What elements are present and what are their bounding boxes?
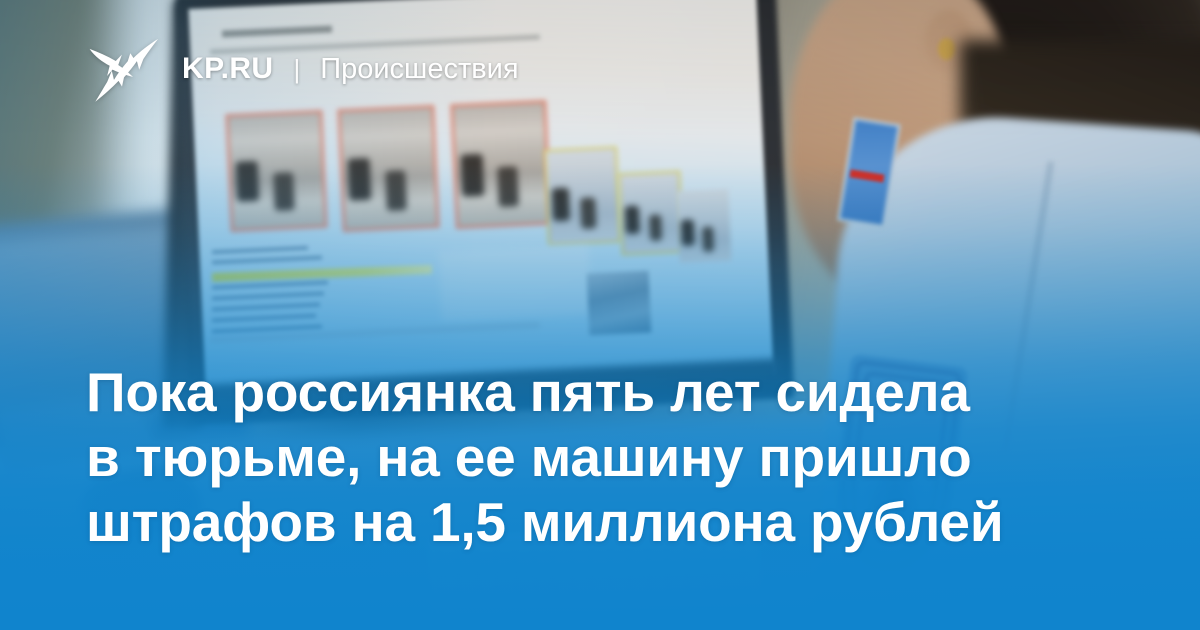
headline-line-2: в тюрьме, на ее машину пришло — [86, 425, 1106, 490]
headline-line-3: штрафов на 1,5 миллиона рублей — [86, 490, 1106, 555]
brand-separator: | — [293, 56, 300, 82]
swallow-bird-logo-icon[interactable] — [88, 36, 160, 102]
brand-name[interactable]: KP.RU — [182, 54, 273, 84]
headline-line-1: Пока россиянка пять лет сидела — [86, 360, 1106, 425]
brand-header: KP.RU | Происшествия — [88, 36, 519, 102]
social-share-card: KP.RU | Происшествия Пока россиянка пять… — [0, 0, 1200, 630]
rubric-label[interactable]: Происшествия — [320, 55, 518, 84]
headline: Пока россиянка пять лет сидела в тюрьме,… — [86, 360, 1106, 555]
